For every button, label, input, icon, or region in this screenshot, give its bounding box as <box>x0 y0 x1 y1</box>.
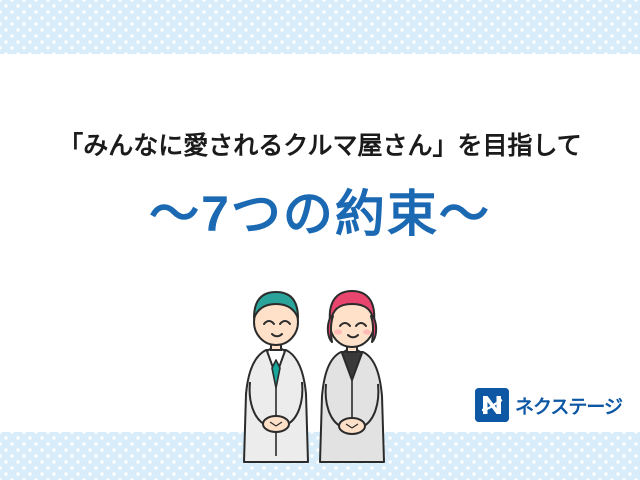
promo-banner: 「みんなに愛されるクルマ屋さん」を目指して ～7つの約束～ <box>0 0 640 480</box>
nexstage-n-mark-icon <box>475 388 509 422</box>
subheadline-text: ～7つの約束～ <box>0 174 640 246</box>
female-staff-figure <box>320 291 384 462</box>
headline-text: 「みんなに愛されるクルマ屋さん」を目指して <box>0 126 640 162</box>
white-content-card: 「みんなに愛されるクルマ屋さん」を目指して ～7つの約束～ <box>0 54 640 432</box>
two-staff-bowing-illustration <box>236 272 416 472</box>
nexstage-logo: ネクステージ <box>475 388 622 422</box>
dot-pattern-top <box>0 0 640 54</box>
nexstage-logo-text: ネクステージ <box>515 392 622 419</box>
male-staff-figure <box>244 292 308 462</box>
